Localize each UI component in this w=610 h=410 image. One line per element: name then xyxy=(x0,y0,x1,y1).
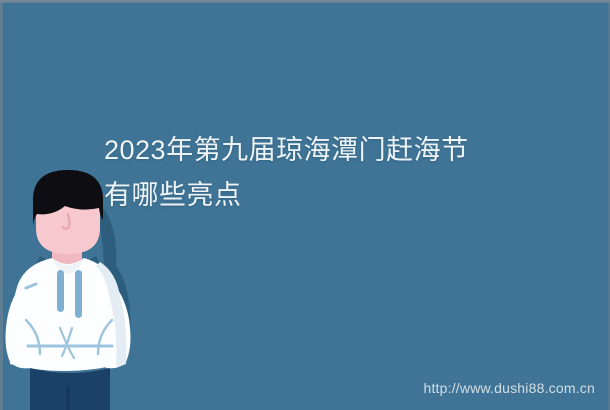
top-border xyxy=(0,0,610,3)
article-cover-banner: 2023年第九届琼海潭门赶海节 有哪些亮点 http://www.dushi88… xyxy=(0,0,610,410)
drawstring-left xyxy=(57,270,64,312)
watermark-url: http://www.dushi88.com.cn xyxy=(423,380,595,396)
page-title: 2023年第九届琼海潭门赶海节 有哪些亮点 xyxy=(104,128,604,218)
pants xyxy=(30,368,110,410)
hoodie-sleeve-left xyxy=(6,284,31,368)
drawstring-right xyxy=(75,270,82,318)
